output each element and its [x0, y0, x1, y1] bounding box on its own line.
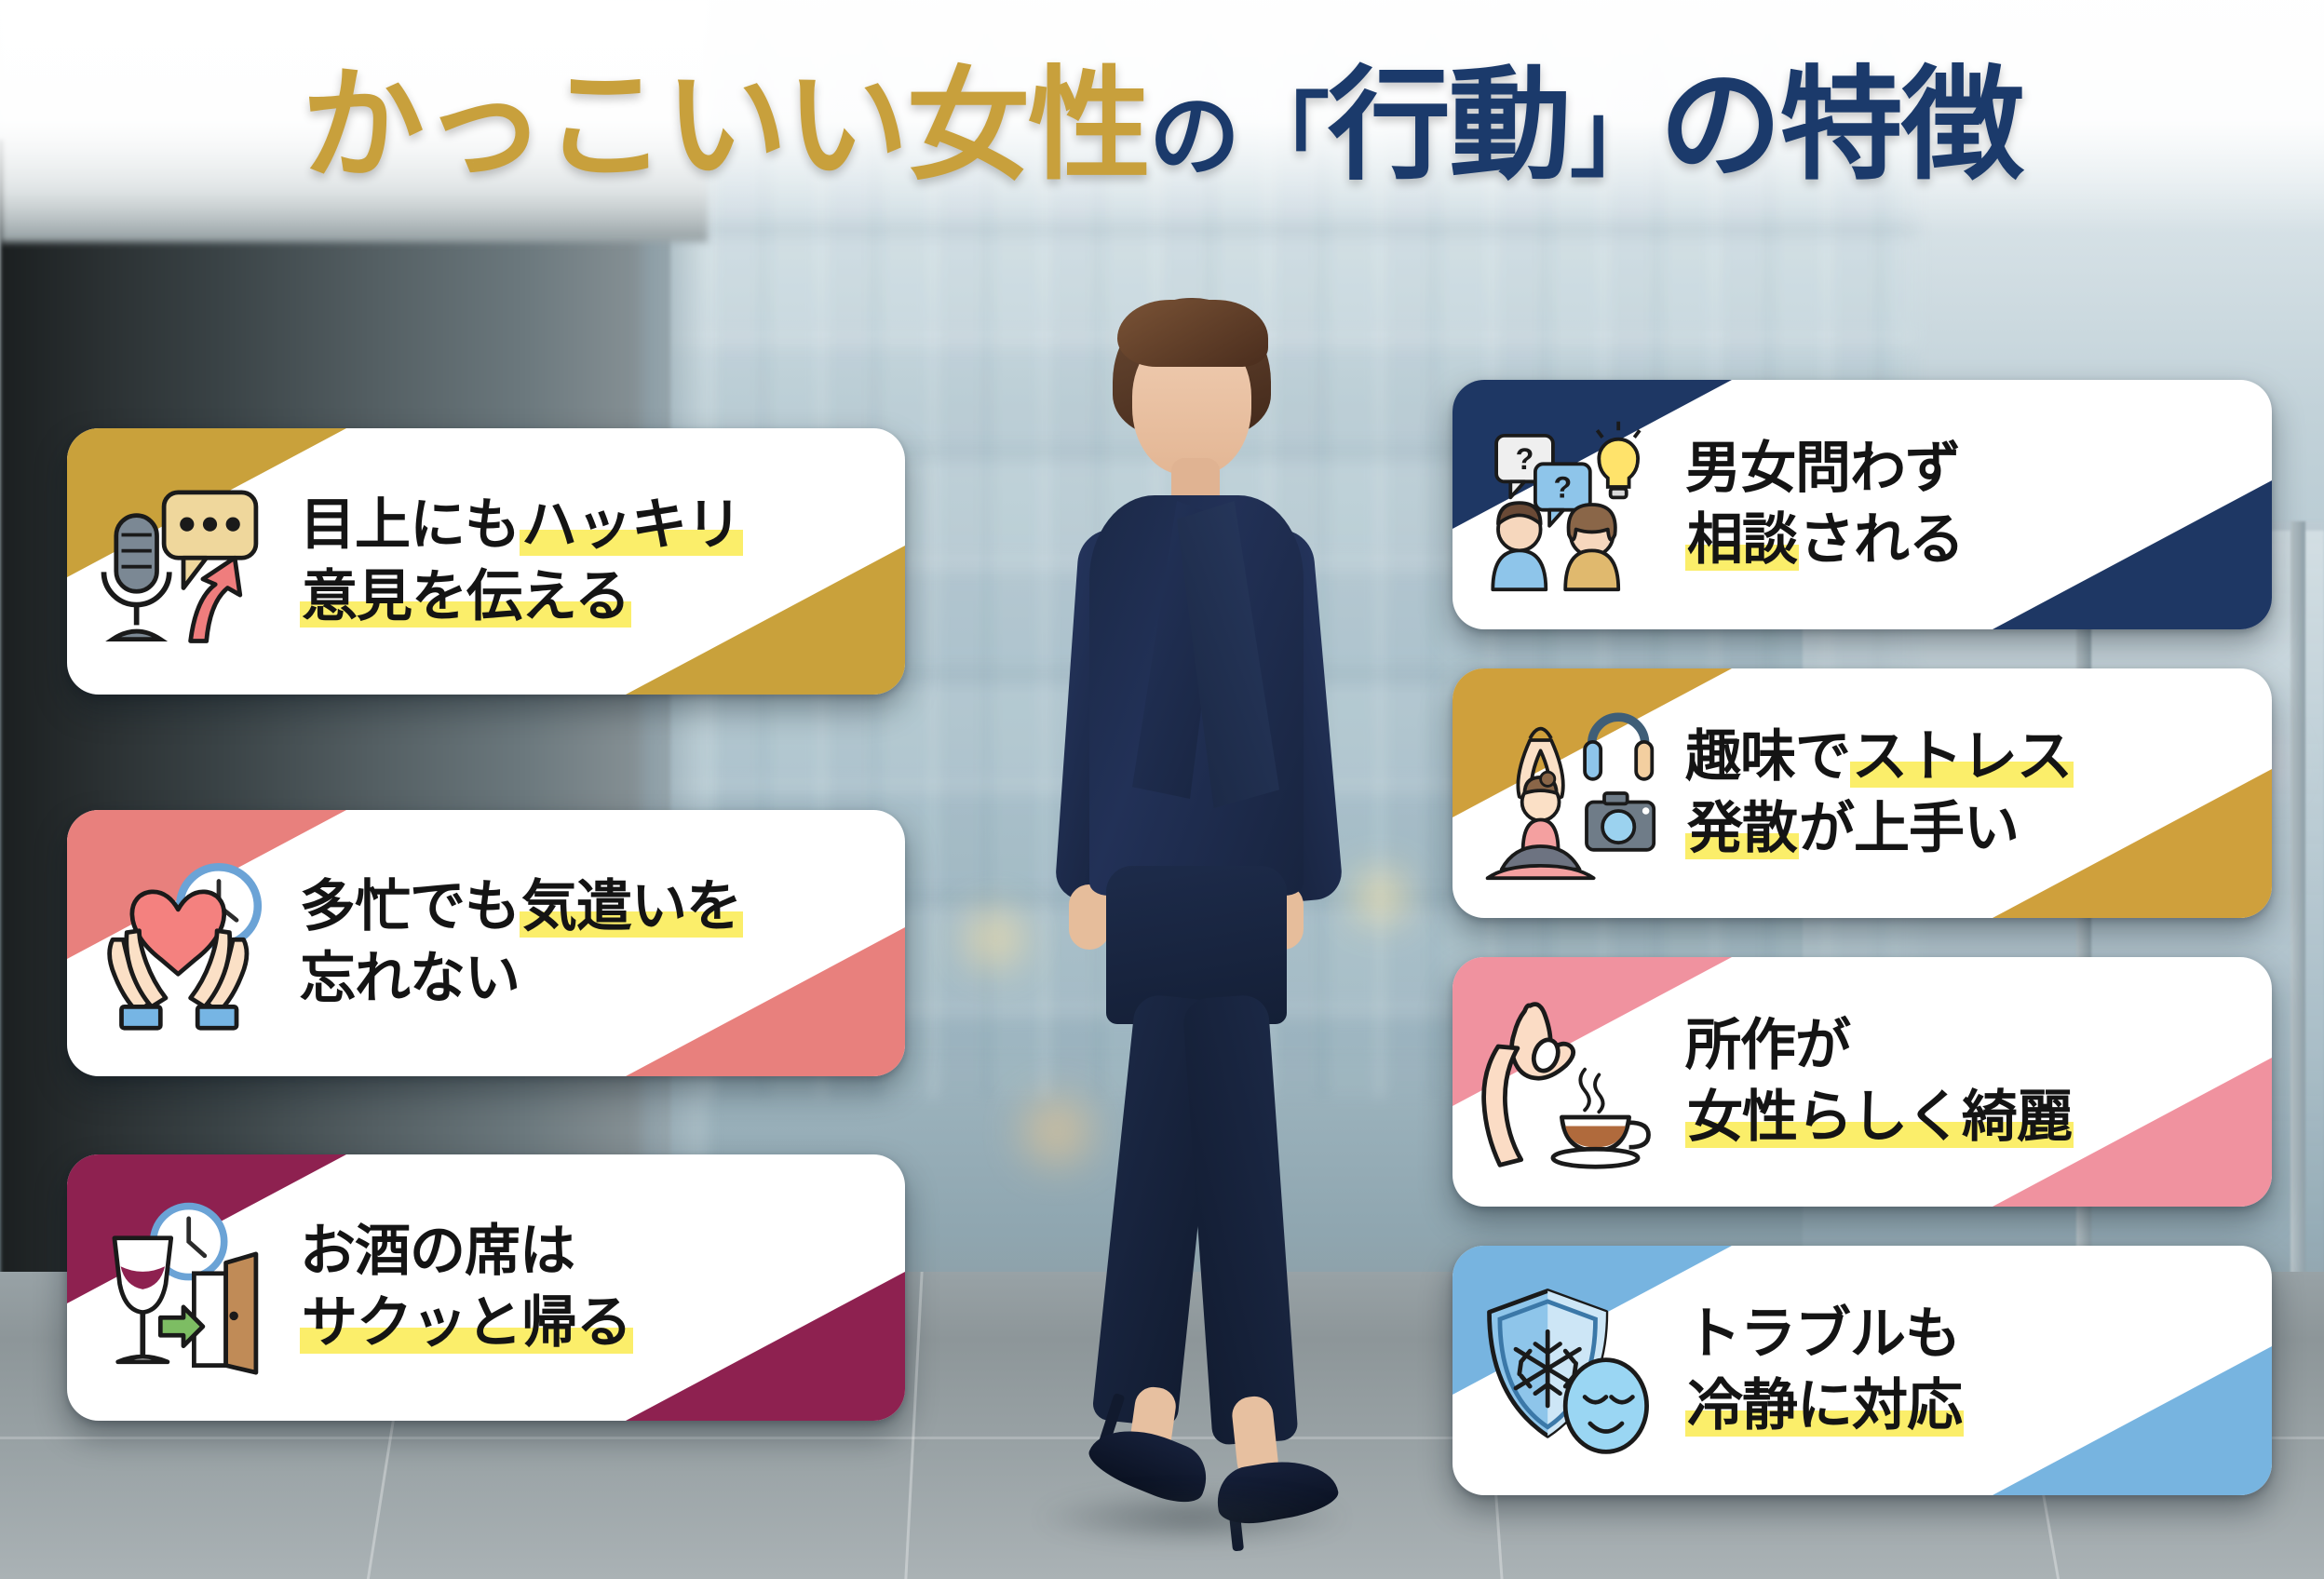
- title-keyword: 行動: [1328, 57, 1570, 194]
- feature-card-hobby-stress-relief[interactable]: 趣味でストレス 発散が上手い: [1452, 668, 2272, 918]
- svg-text:?: ?: [1516, 442, 1534, 476]
- card-accent-bottom-right: [626, 1272, 905, 1421]
- card-line-2: 意見を伝える: [300, 561, 743, 633]
- heel-right: [1225, 1478, 1244, 1552]
- feature-card-speak-up[interactable]: 目上にもハッキリ 意見を伝える: [67, 428, 905, 695]
- card-line-1: 多忙でも気遣いを: [300, 871, 743, 943]
- card-text: 趣味でストレス 発散が上手い: [1685, 722, 2098, 865]
- card-text: 男女問わず 相談される: [1685, 433, 1988, 576]
- card-line-1: 趣味でストレス: [1685, 722, 2074, 793]
- leg-right: [1182, 993, 1298, 1445]
- railing-post: [2290, 521, 2305, 1359]
- card-text: トラブルも 冷静に対応: [1685, 1299, 1988, 1442]
- title-quote-close: 」: [1570, 85, 1659, 187]
- wine-glass-clock-door-icon: [67, 1154, 300, 1421]
- page-title: かっこいい女性の「行動」の特徴: [0, 58, 2324, 193]
- yoga-headphones-camera-icon: [1452, 668, 1685, 918]
- title-particle-no: の: [1149, 85, 1238, 187]
- card-line-1: 男女問わず: [1685, 433, 1964, 505]
- card-line-2: サクッと帰る: [300, 1288, 633, 1359]
- card-text: お酒の席は サクッと帰る: [300, 1216, 657, 1359]
- card-line-1: トラブルも: [1685, 1299, 1964, 1370]
- feature-card-leave-early[interactable]: お酒の席は サクッと帰る: [67, 1154, 905, 1421]
- card-line-1: 目上にもハッキリ: [300, 490, 743, 561]
- feature-card-consulted[interactable]: ? ? 男女問わず 相談される: [1452, 380, 2272, 629]
- card-accent-bottom-right: [1993, 1346, 2272, 1495]
- svg-text:?: ?: [1553, 470, 1572, 504]
- card-text: 所作が 女性らしく綺麗: [1685, 1010, 2098, 1154]
- card-accent-bottom-right: [1993, 480, 2272, 629]
- microphone-speech-bubble-arrow-icon: [67, 428, 300, 695]
- title-tail: の特徴: [1659, 57, 2022, 194]
- railing-post: [2076, 521, 2091, 1359]
- businesswoman-figure: [950, 279, 1434, 1579]
- card-line-2: 女性らしく綺麗: [1685, 1082, 2074, 1154]
- shoe-right: [1212, 1451, 1342, 1530]
- glass-railing: [1803, 521, 2324, 1359]
- card-line-1: お酒の席は: [300, 1216, 633, 1288]
- shield-snowflake-calm-face-icon: [1452, 1246, 1685, 1495]
- card-line-2: 忘れない: [300, 943, 743, 1015]
- card-line-1: 所作が: [1685, 1010, 2074, 1082]
- elegant-hand-teacup-icon: [1452, 957, 1685, 1207]
- title-gold-part: かっこいい女性: [302, 57, 1149, 194]
- card-line-2: 発散が上手い: [1685, 793, 2074, 865]
- title-quote-open: 「: [1238, 85, 1328, 187]
- feature-card-considerate[interactable]: 多忙でも気遣いを 忘れない: [67, 810, 905, 1076]
- feature-card-stay-calm[interactable]: トラブルも 冷静に対応: [1452, 1246, 2272, 1495]
- hands-heart-clock-icon: [67, 810, 300, 1076]
- two-people-question-bubbles-lightbulb-icon: ? ?: [1452, 380, 1685, 629]
- card-line-2: 相談される: [1685, 505, 1964, 576]
- card-line-2: 冷静に対応: [1685, 1370, 1964, 1442]
- hair-fringe: [1117, 300, 1268, 367]
- feature-card-elegant-manners[interactable]: 所作が 女性らしく綺麗: [1452, 957, 2272, 1207]
- card-text: 目上にもハッキリ 意見を伝える: [300, 490, 767, 633]
- card-text: 多忙でも気遣いを 忘れない: [300, 871, 767, 1015]
